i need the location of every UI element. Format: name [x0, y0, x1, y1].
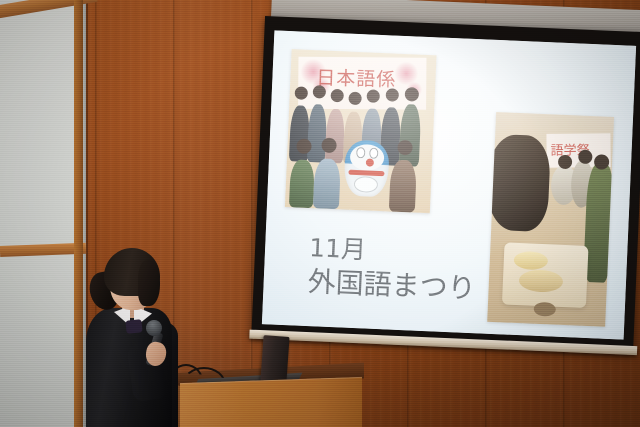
person-head: [296, 138, 312, 154]
person: [289, 159, 315, 208]
doraemon-nose: [366, 158, 374, 166]
laptop-screen: [260, 335, 289, 383]
booth-food: [513, 251, 548, 270]
slide-photo-group: 日本語係: [285, 49, 437, 213]
slide-photo-booth: 語学祭: [487, 112, 614, 327]
projected-slide: 日本語係: [262, 30, 636, 339]
person-head: [366, 89, 380, 103]
person-head: [321, 138, 337, 154]
presenter-hair-side: [138, 260, 160, 306]
screen-frame: 日本語係: [251, 16, 640, 352]
person-head: [313, 85, 327, 99]
booth-food: [519, 269, 564, 293]
foreground-figure: [487, 134, 551, 233]
doraemon-face: [350, 144, 385, 171]
doraemon-collar: [348, 170, 384, 177]
doraemon-eye: [356, 147, 365, 158]
person-head: [330, 89, 344, 103]
presentation-scene-photo: 日本語係: [0, 0, 640, 427]
slide-caption-title: 外国語まつり: [307, 260, 477, 307]
booth-table: [502, 242, 589, 308]
person-head: [295, 86, 309, 100]
podium-front-panel: [180, 377, 362, 427]
banner-text: 日本語係: [316, 63, 397, 92]
student-presenter: [82, 246, 190, 427]
booth-basket: [533, 302, 556, 317]
projection-screen-assembly: 日本語係: [251, 0, 640, 364]
person-head: [386, 88, 400, 102]
podium: [166, 368, 364, 427]
person: [313, 158, 341, 209]
person: [389, 159, 417, 212]
screen-surface: 日本語係: [262, 30, 636, 339]
doraemon-pocket: [354, 176, 379, 193]
presenter-ribbon: [125, 319, 142, 334]
doraemon-eye: [369, 148, 378, 159]
person-head: [348, 92, 362, 106]
